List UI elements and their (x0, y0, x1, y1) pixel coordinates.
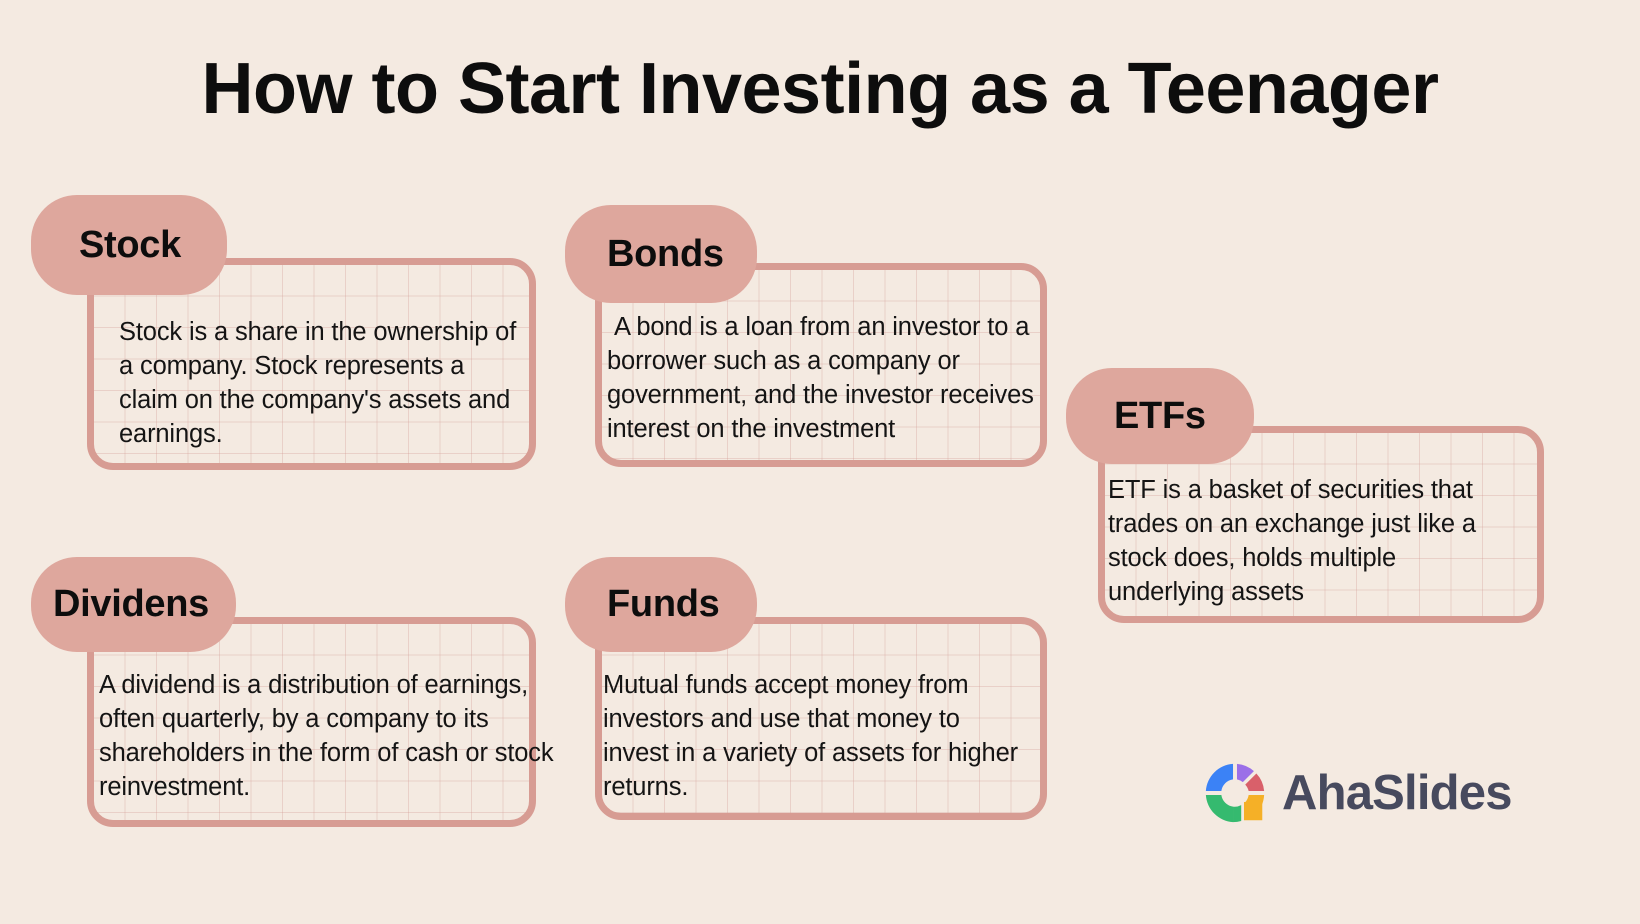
card-label-stock: Stock (79, 224, 181, 267)
card-label-pill-etfs: ETFs (1066, 368, 1254, 464)
card-stock: Stock is a share in the ownership of a c… (31, 195, 536, 470)
card-label-etfs: ETFs (1114, 395, 1206, 438)
card-dividens: A dividend is a distribution of earnings… (31, 557, 536, 827)
page-title: How to Start Investing as a Teenager (0, 48, 1640, 130)
card-label-bonds: Bonds (607, 233, 724, 276)
card-description-funds: Mutual funds accept money from investors… (603, 668, 1028, 805)
ahaslides-donut-icon (1204, 762, 1266, 824)
card-description-dividens: A dividend is a distribution of earnings… (99, 668, 559, 805)
slide-canvas: How to Start Investing as a Teenager Sto… (0, 0, 1640, 924)
ahaslides-wordmark: AhaSlides (1282, 765, 1512, 821)
card-etfs: ETF is a basket of securities that trade… (1066, 368, 1544, 623)
card-bonds: A bond is a loan from an investor to a b… (565, 205, 1047, 467)
card-label-funds: Funds (607, 583, 719, 626)
card-label-pill-funds: Funds (565, 557, 757, 652)
card-label-pill-bonds: Bonds (565, 205, 757, 303)
card-label-dividens: Dividens (53, 583, 209, 626)
card-description-stock: Stock is a share in the ownership of a c… (119, 315, 529, 452)
card-description-bonds: A bond is a loan from an investor to a b… (607, 310, 1037, 447)
card-funds: Mutual funds accept money from investors… (565, 557, 1047, 820)
card-label-pill-stock: Stock (31, 195, 227, 295)
card-description-etfs: ETF is a basket of securities that trade… (1108, 473, 1503, 610)
card-label-pill-dividens: Dividens (31, 557, 236, 652)
ahaslides-logo: AhaSlides (1204, 762, 1512, 824)
